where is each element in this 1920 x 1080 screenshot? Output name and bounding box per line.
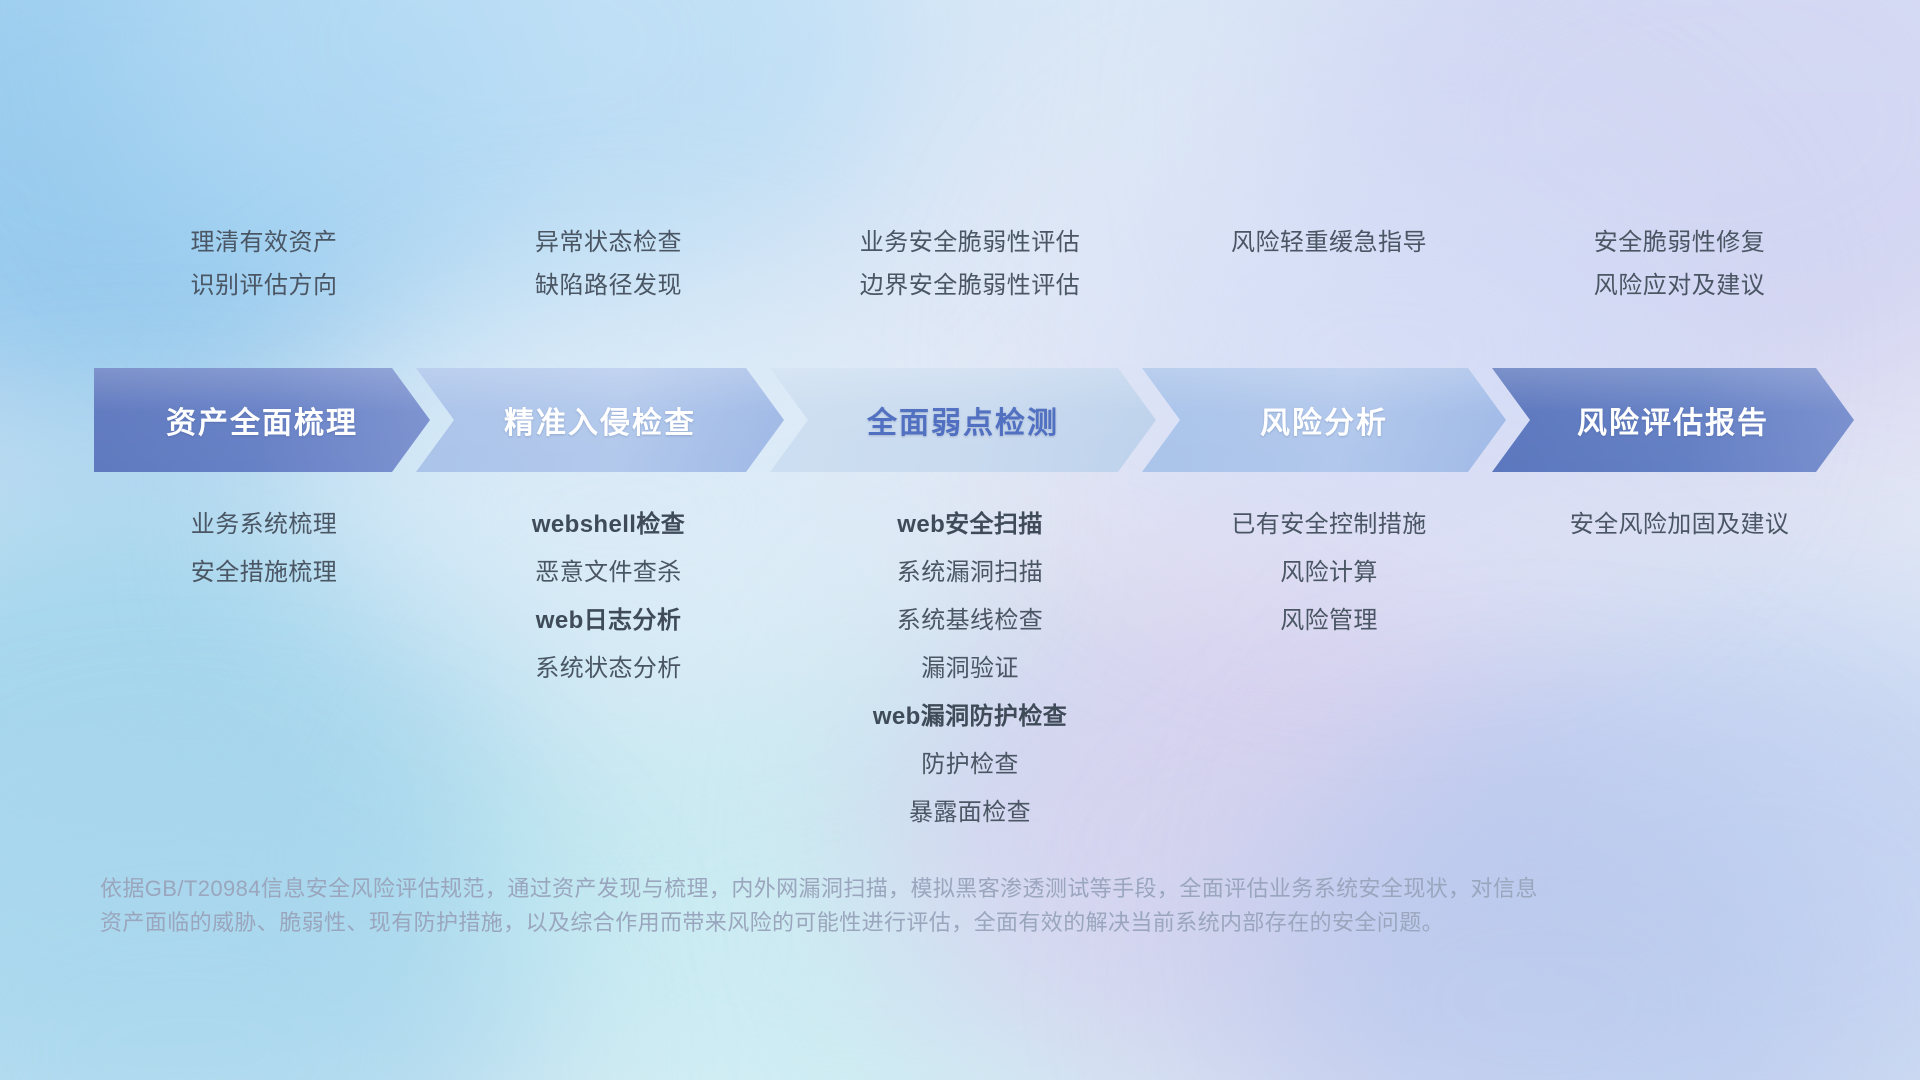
task-column-5: 安全风险加固及建议 <box>1503 508 1856 829</box>
stage-label: 风险分析 <box>1260 398 1388 442</box>
task-label: web安全扫描 <box>897 508 1042 541</box>
task-label: 系统漏洞扫描 <box>897 556 1043 589</box>
task-label: 安全措施梳理 <box>191 556 337 589</box>
stage-arrow-3[interactable]: 全面弱点检测 <box>770 368 1156 472</box>
stage-label: 全面弱点检测 <box>867 398 1059 442</box>
task-label: 已有安全控制措施 <box>1231 508 1426 541</box>
stage-arrow-2[interactable]: 精准入侵检查 <box>416 368 784 472</box>
stage-arrow-4[interactable]: 风险分析 <box>1142 368 1506 472</box>
task-label: 安全风险加固及建议 <box>1570 508 1790 541</box>
stage-label: 精准入侵检查 <box>504 398 696 442</box>
task-label: webshell检查 <box>532 508 685 541</box>
tasks-bottom-row: 业务系统梳理 安全措施梳理 webshell检查 恶意文件查杀 web日志分析 … <box>96 508 1856 829</box>
outcome-column-4: 风险轻重缓急指导 <box>1155 228 1503 301</box>
footer-line-1: 依据GB/T20984信息安全风险评估规范，通过资产发现与梳理，内外网漏洞扫描，… <box>100 872 1640 906</box>
outcomes-top-row: 理清有效资产 识别评估方向 异常状态检查 缺陷路径发现 业务安全脆弱性评估 边界… <box>96 228 1856 301</box>
outcome-label: 理清有效资产 <box>191 228 338 258</box>
outcome-label: 异常状态检查 <box>535 228 682 258</box>
outcome-column-1: 理清有效资产 识别评估方向 <box>96 228 432 301</box>
task-label: 系统状态分析 <box>535 652 681 685</box>
task-label: 风险管理 <box>1280 604 1378 637</box>
stage-arrow-1[interactable]: 资产全面梳理 <box>94 368 430 472</box>
task-label: 风险计算 <box>1280 556 1378 589</box>
outcome-label: 识别评估方向 <box>191 271 338 301</box>
outcome-column-2: 异常状态检查 缺陷路径发现 <box>432 228 785 301</box>
outcome-label: 边界安全脆弱性评估 <box>860 271 1081 301</box>
task-label: 防护检查 <box>921 748 1019 781</box>
outcome-column-5: 安全脆弱性修复 风险应对及建议 <box>1503 228 1856 301</box>
footer-line-2: 资产面临的威胁、脆弱性、现有防护措施，以及综合作用而带来风险的可能性进行评估，全… <box>100 906 1640 940</box>
task-column-2: webshell检查 恶意文件查杀 web日志分析 系统状态分析 <box>432 508 785 829</box>
stage-arrow-5[interactable]: 风险评估报告 <box>1492 368 1854 472</box>
task-label: 业务系统梳理 <box>191 508 337 541</box>
task-column-1: 业务系统梳理 安全措施梳理 <box>96 508 432 829</box>
task-column-3: web安全扫描 系统漏洞扫描 系统基线检查 漏洞验证 web漏洞防护检查 防护检… <box>785 508 1155 829</box>
task-label: 恶意文件查杀 <box>535 556 681 589</box>
outcome-label: 缺陷路径发现 <box>535 271 682 301</box>
footer-description: 依据GB/T20984信息安全风险评估规范，通过资产发现与梳理，内外网漏洞扫描，… <box>100 872 1640 940</box>
task-label: 系统基线检查 <box>897 604 1043 637</box>
infographic-canvas: 理清有效资产 识别评估方向 异常状态检查 缺陷路径发现 业务安全脆弱性评估 边界… <box>0 0 1920 1080</box>
outcome-column-3: 业务安全脆弱性评估 边界安全脆弱性评估 <box>785 228 1155 301</box>
outcome-label: 风险轻重缓急指导 <box>1231 228 1427 258</box>
task-label: web漏洞防护检查 <box>873 700 1067 733</box>
task-label: 暴露面检查 <box>909 796 1031 829</box>
task-column-4: 已有安全控制措施 风险计算 风险管理 <box>1155 508 1503 829</box>
stage-label: 风险评估报告 <box>1577 398 1769 442</box>
task-label: web日志分析 <box>536 604 681 637</box>
outcome-label: 业务安全脆弱性评估 <box>860 228 1081 258</box>
process-stage-band: 资产全面梳理 精准入侵检查 全面弱点检测 风险分析 风险评估报告 <box>94 368 1854 472</box>
outcome-label: 风险应对及建议 <box>1594 271 1766 301</box>
outcome-label: 安全脆弱性修复 <box>1594 228 1766 258</box>
stage-label: 资产全面梳理 <box>166 398 358 442</box>
task-label: 漏洞验证 <box>921 652 1019 685</box>
